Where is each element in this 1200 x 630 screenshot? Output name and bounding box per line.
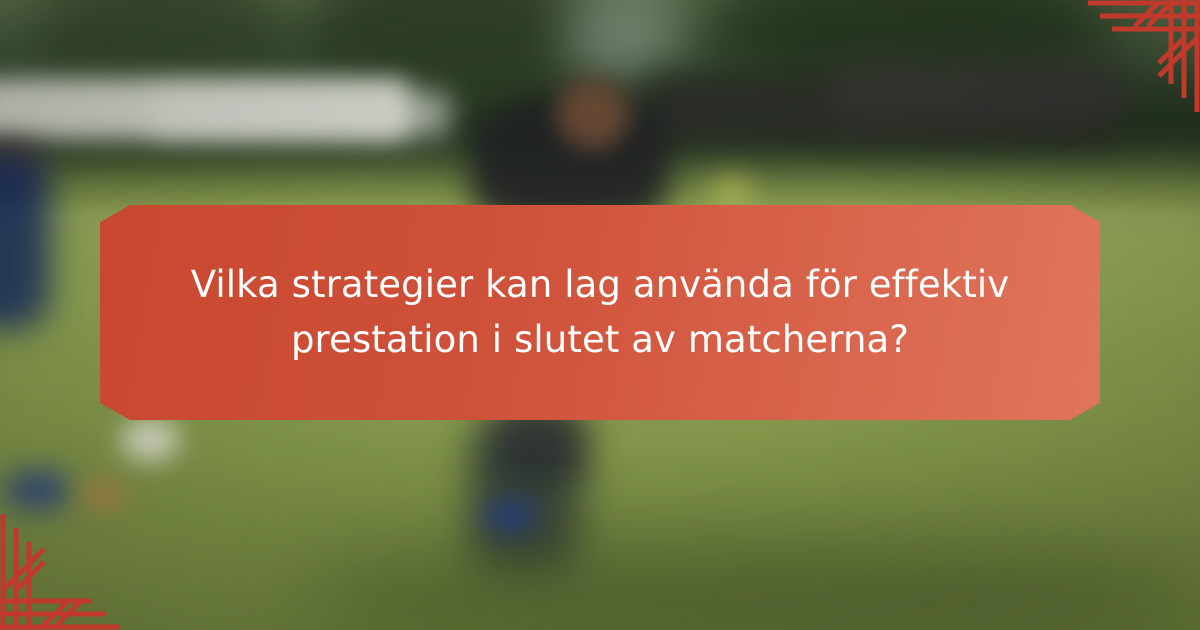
headline-banner: Vilka strategier kan lag använda för eff… (100, 205, 1100, 420)
share-card: Vilka strategier kan lag använda för eff… (0, 0, 1200, 630)
headline-text: Vilka strategier kan lag använda för eff… (143, 258, 1057, 367)
